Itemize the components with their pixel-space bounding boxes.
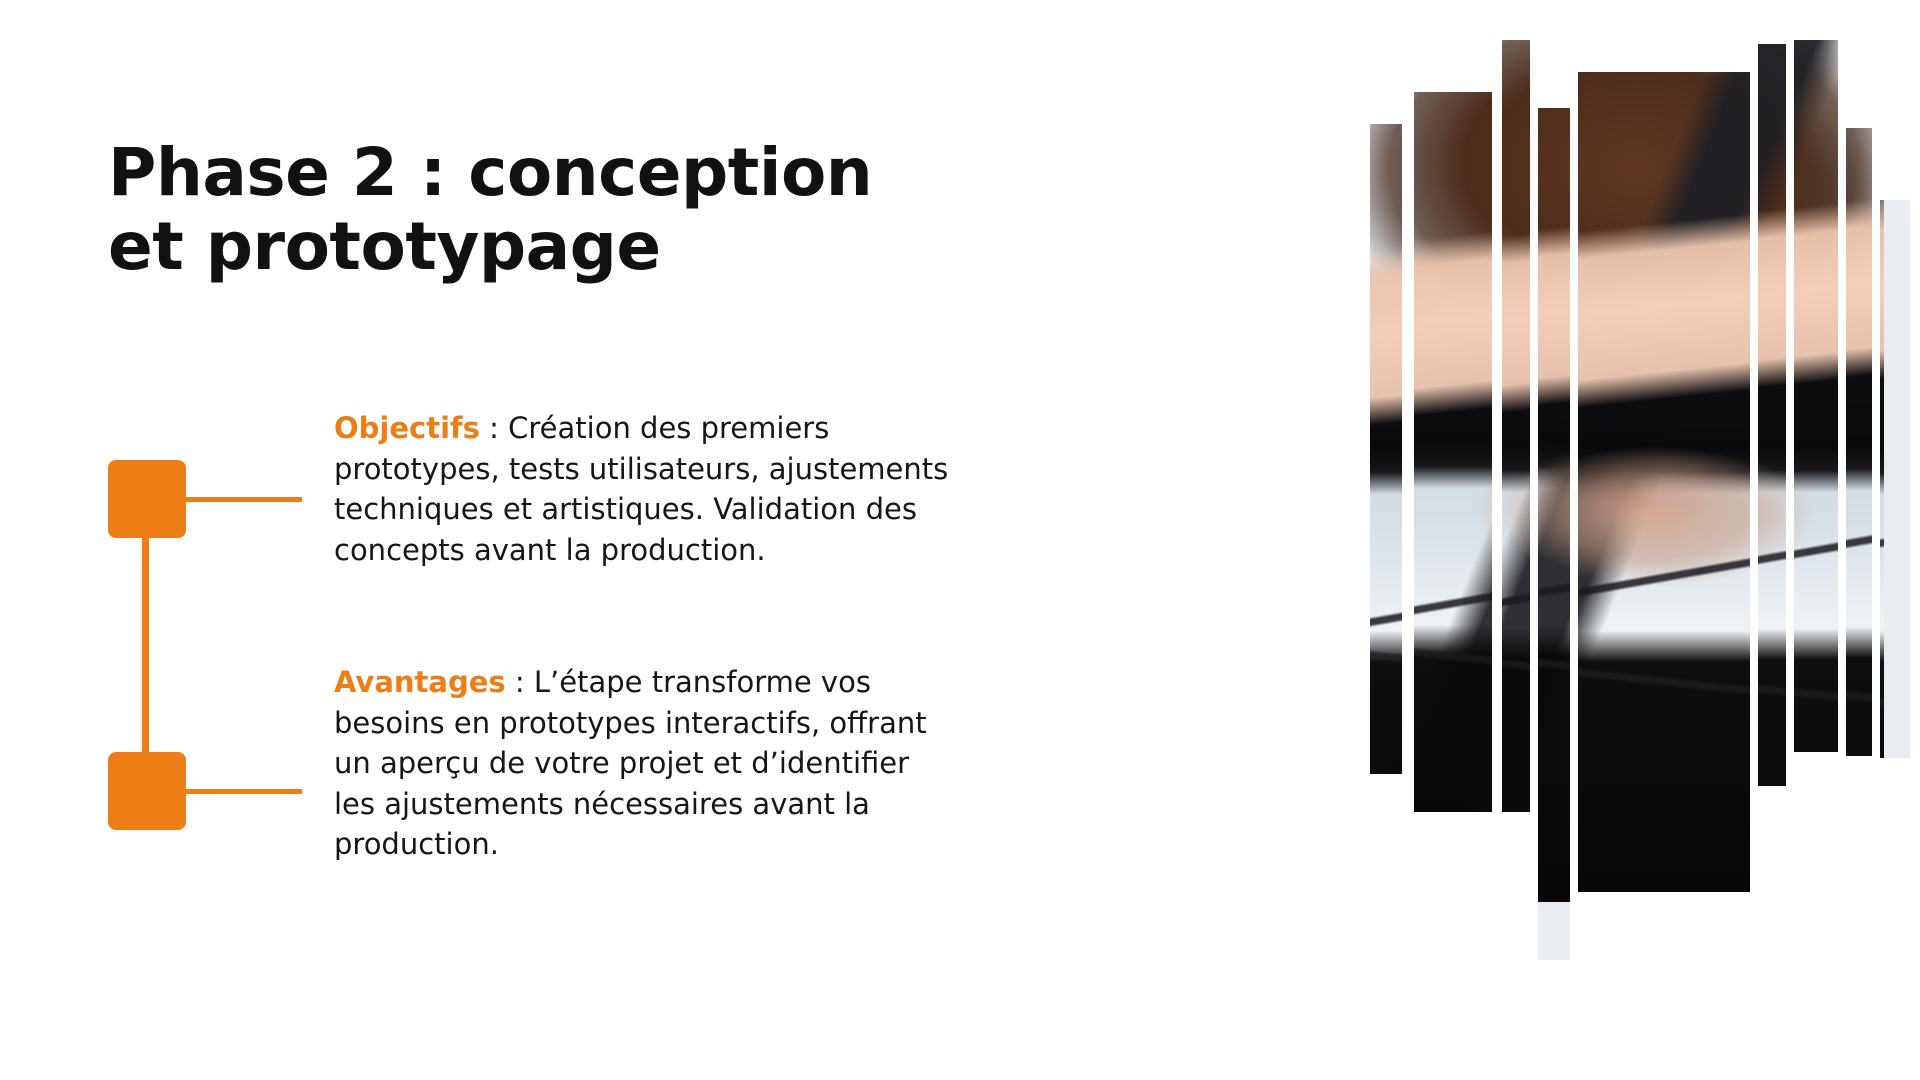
content-lead-avantages: Avantages xyxy=(334,665,506,699)
content-lead-objectifs: Objectifs xyxy=(334,411,480,445)
timeline-vertical-connector xyxy=(142,533,149,759)
vr-headset-photo-collage xyxy=(1370,0,1920,1080)
photo-strip-image xyxy=(1370,124,1402,774)
photo-strip-image xyxy=(1758,44,1786,786)
content-separator-avantages: : xyxy=(506,665,534,699)
photo-strip xyxy=(1794,40,1838,752)
photo-strip-image xyxy=(1880,200,1884,758)
timeline-marker-2 xyxy=(108,752,186,830)
timeline-horizontal-connector-2 xyxy=(182,789,302,794)
photo-strip xyxy=(1502,40,1530,812)
content-block-objectifs: Objectifs : Création des premiers protot… xyxy=(334,408,954,570)
photo-strip xyxy=(1846,128,1872,756)
content-block-avantages: Avantages : L’étape transforme vos besoi… xyxy=(334,662,954,865)
photo-strip xyxy=(1414,92,1492,812)
photo-strip-image xyxy=(1578,72,1750,892)
photo-strip xyxy=(1758,44,1786,786)
photo-strip-image xyxy=(1846,128,1872,756)
photo-strip xyxy=(1538,108,1570,960)
timeline-marker-1 xyxy=(108,460,186,538)
page-title: Phase 2 : conception et prototypage xyxy=(108,136,1008,284)
photo-strip-image xyxy=(1414,92,1492,812)
timeline-horizontal-connector-1 xyxy=(182,497,302,502)
content-separator-objectifs: : xyxy=(480,411,508,445)
photo-strip-image xyxy=(1502,40,1530,812)
photo-strip-image xyxy=(1538,108,1570,902)
photo-strip-image xyxy=(1794,40,1838,752)
slide-canvas: Phase 2 : conception et prototypage Obje… xyxy=(0,0,1920,1080)
photo-strip xyxy=(1578,72,1750,892)
photo-strip xyxy=(1880,200,1910,758)
photo-strip xyxy=(1370,124,1402,774)
